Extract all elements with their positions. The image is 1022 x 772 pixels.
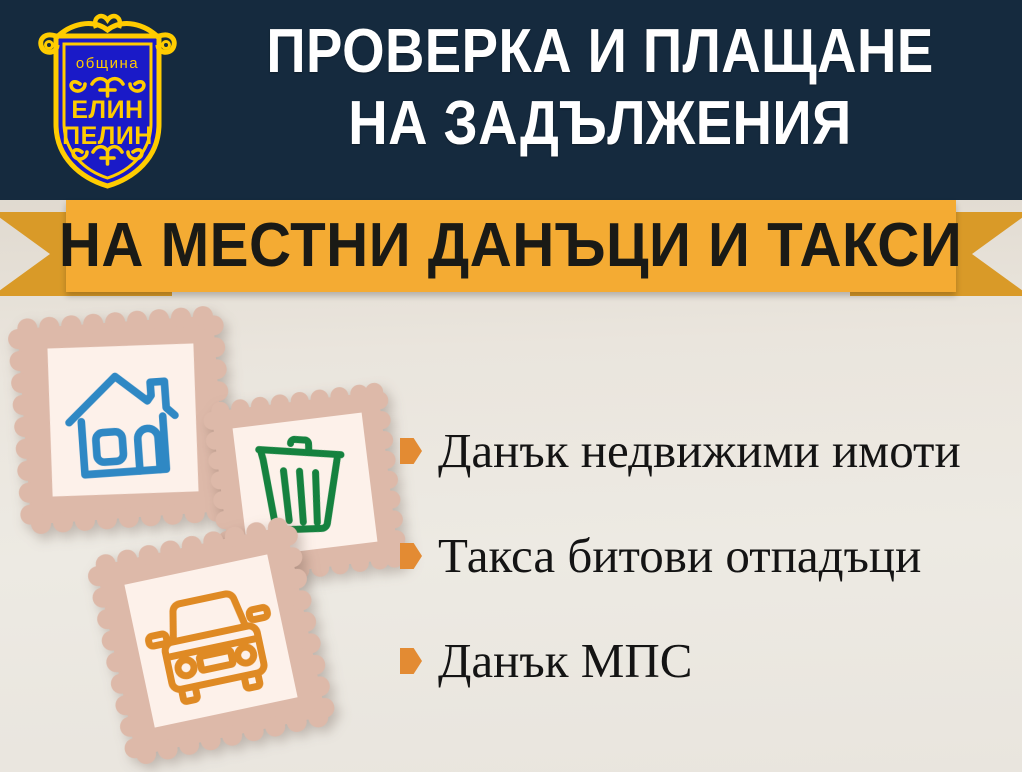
ribbon-label: НА МЕСТНИ ДАНЪЦИ И ТАКСИ	[59, 215, 962, 277]
poster-title: ПРОВЕРКА И ПЛАЩАНЕ НА ЗАДЪЛЖЕНИЯ	[190, 16, 1010, 160]
title-line-1: ПРОВЕРКА И ПЛАЩАНЕ	[239, 16, 961, 88]
ribbon-banner: НА МЕСТНИ ДАНЪЦИ И ТАКСИ	[66, 200, 956, 292]
subtitle-ribbon: НА МЕСТНИ ДАНЪЦИ И ТАКСИ	[0, 198, 1022, 310]
poster-header: община ЕЛИН ПЕЛИН ПРОВЕРКА И ПЛАЩАНЕ НА …	[0, 0, 1022, 200]
list-item: Данък недвижими имоти	[400, 420, 1020, 482]
list-item-label: Такса битови отпадъци	[438, 528, 921, 584]
arrow-bullet-icon	[400, 438, 422, 464]
list-item: Такса битови отпадъци	[400, 525, 1020, 587]
list-item: Данък МПС	[400, 630, 1020, 692]
list-item-label: Данък недвижими имоти	[438, 423, 961, 479]
list-item-label: Данък МПС	[438, 633, 692, 689]
trash-bin-icon	[258, 438, 343, 531]
logo-text-elin: ЕЛИН	[71, 96, 143, 124]
poster-canvas: община ЕЛИН ПЕЛИН ПРОВЕРКА И ПЛАЩАНЕ НА …	[0, 0, 1022, 772]
arrow-bullet-icon	[400, 648, 422, 674]
logo-text-pelin: ПЕЛИН	[62, 122, 153, 150]
title-line-2: НА ЗАДЪЛЖЕНИЯ	[239, 88, 961, 160]
vehicle-stamp	[84, 514, 338, 768]
arrow-bullet-icon	[400, 543, 422, 569]
elin-pelin-coat-of-arms-logo: община ЕЛИН ПЕЛИН	[30, 6, 185, 191]
tax-types-list: Данък недвижими имоти Такса битови отпад…	[400, 420, 1020, 735]
logo-text-obshtina: община	[76, 55, 139, 72]
